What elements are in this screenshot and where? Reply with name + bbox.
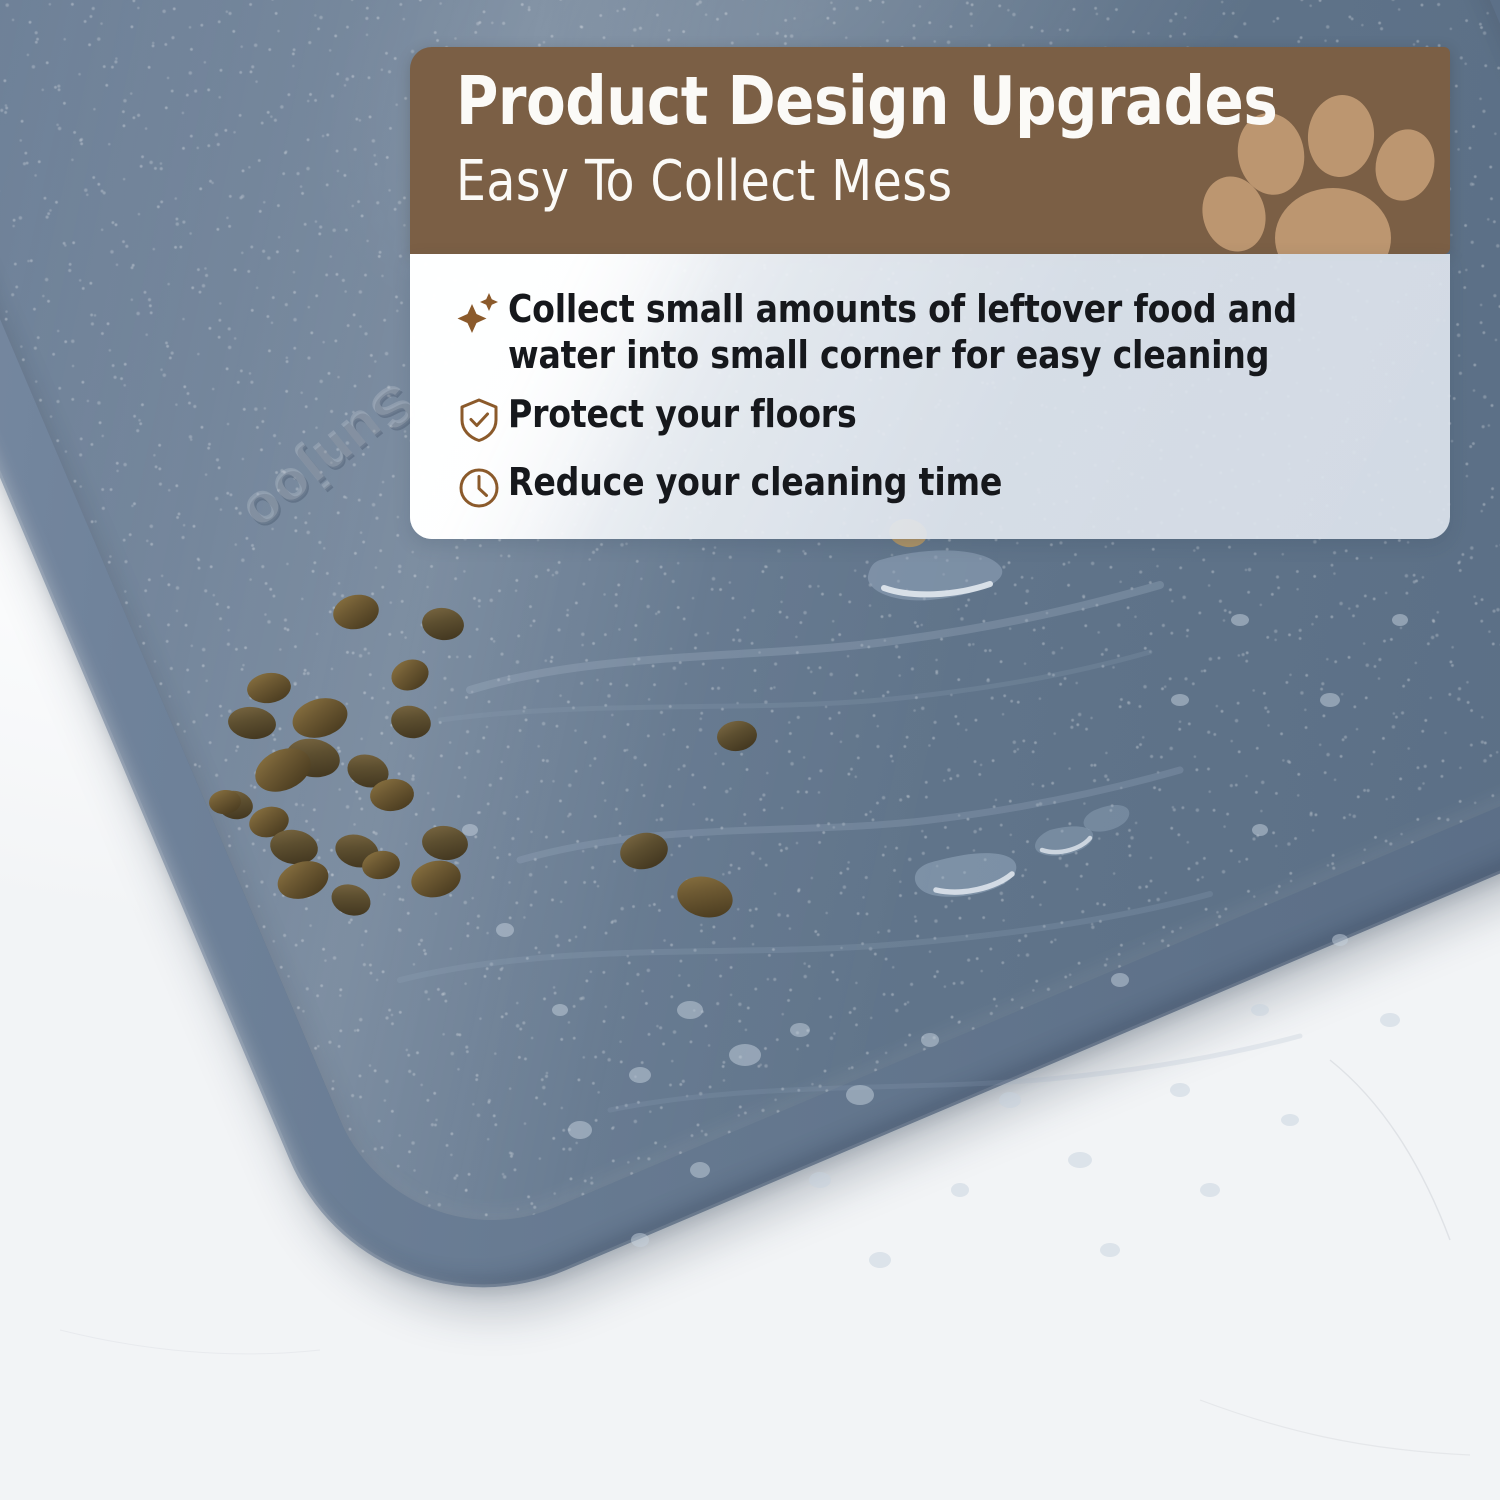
clock-icon: [450, 461, 508, 515]
sparkles-icon: [450, 288, 508, 342]
feature-text-collect: Collect small amounts of leftover food a…: [508, 286, 1400, 379]
feature-item-collect: Collect small amounts of leftover food a…: [450, 286, 1428, 379]
product-marketing-image: Sunjoo: [0, 0, 1500, 1500]
feature-item-protect: Protect your floors: [450, 391, 1428, 447]
shield-check-icon: [450, 393, 508, 447]
feature-benefits-panel: Collect small amounts of leftover food a…: [410, 254, 1450, 539]
feature-text-protect: Protect your floors: [508, 391, 857, 437]
feature-text-reduce-time: Reduce your cleaning time: [508, 459, 1002, 505]
feature-item-reduce-time: Reduce your cleaning time: [450, 459, 1428, 515]
banner-text-block: Product Design Upgrades Easy To Collect …: [456, 63, 1290, 215]
banner-title: Product Design Upgrades: [456, 63, 1257, 140]
feature-list: Collect small amounts of leftover food a…: [450, 286, 1428, 515]
banner-subtitle: Easy To Collect Mess: [456, 148, 1240, 215]
header-banner: Product Design Upgrades Easy To Collect …: [410, 47, 1450, 254]
